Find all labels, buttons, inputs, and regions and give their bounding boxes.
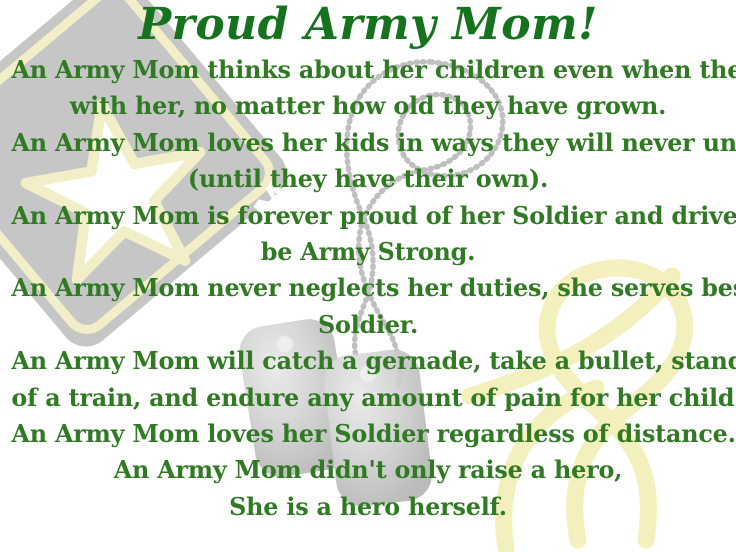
poem-line: (until they have their own). <box>11 161 724 197</box>
poem-line: An Army Mom thinks about her children ev… <box>11 52 724 88</box>
poem-line: An Army Mom didn't only raise a hero, <box>11 452 724 488</box>
poem-line: with her, no matter how old they have gr… <box>11 88 724 124</box>
poem-line: An Army Mom is forever proud of her Sold… <box>11 198 724 234</box>
poem-line: of a train, and endure any amount of pai… <box>11 380 724 416</box>
poem-line: She is a hero herself. <box>11 489 724 525</box>
proud-army-mom-poster: ARMY MOM <box>0 0 736 552</box>
poem-line: be Army Strong. <box>11 234 724 270</box>
poem-line: An Army Mom loves her Soldier regardless… <box>11 416 724 452</box>
poem-line: An Army Mom will catch a gernade, take a… <box>11 343 724 379</box>
poem-body: An Army Mom thinks about her children ev… <box>0 48 736 525</box>
page-title: Proud Army Mom! <box>0 0 736 48</box>
poster-text-layer: Proud Army Mom! An Army Mom thinks about… <box>0 0 736 552</box>
poem-line: An Army Mom loves her kids in ways they … <box>11 125 724 161</box>
poem-line: Soldier. <box>11 307 724 343</box>
poem-line: An Army Mom never neglects her duties, s… <box>11 270 724 306</box>
